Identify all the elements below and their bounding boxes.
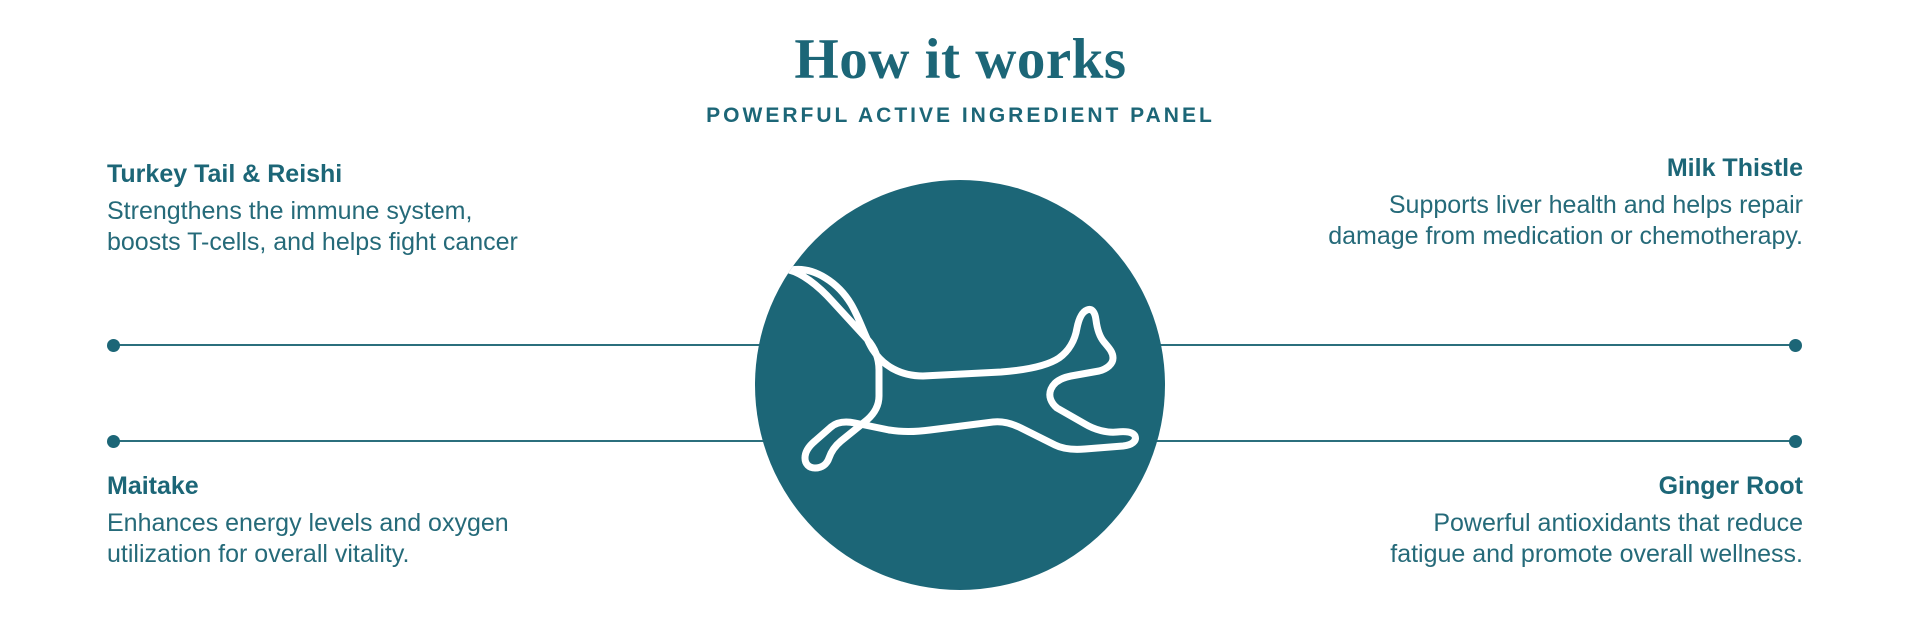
ingredient-name: Maitake [107, 470, 667, 502]
ingredient-milk-thistle: Milk Thistle Supports liver health and h… [1183, 152, 1803, 252]
ingredient-description: Strengthens the immune system, boosts T-… [107, 196, 667, 258]
connector-line-bottom-left [118, 440, 766, 442]
connector-line-top-right [1155, 344, 1793, 346]
ingredient-description: Powerful antioxidants that reduce fatigu… [1183, 508, 1803, 570]
how-it-works-infographic: How it works POWERFUL ACTIVE INGREDIENT … [0, 0, 1921, 640]
connector-line-bottom-right [1155, 440, 1793, 442]
ingredient-maitake: Maitake Enhances energy levels and oxyge… [107, 470, 667, 570]
center-medallion [755, 180, 1165, 590]
connector-line-top-left [118, 344, 766, 346]
header: How it works POWERFUL ACTIVE INGREDIENT … [0, 0, 1921, 130]
connector-dot-bottom-right [1789, 435, 1802, 448]
ingredient-description: Enhances energy levels and oxygen utiliz… [107, 508, 667, 570]
ingredient-description: Supports liver health and helps repair d… [1183, 190, 1803, 252]
ingredient-name: Turkey Tail & Reishi [107, 158, 667, 190]
page-title: How it works [0, 28, 1921, 92]
leaping-cat-outline-icon [755, 180, 1165, 590]
connector-dot-top-right [1789, 339, 1802, 352]
ingredient-name: Milk Thistle [1183, 152, 1803, 184]
connector-dot-top-left [107, 339, 120, 352]
ingredient-ginger-root: Ginger Root Powerful antioxidants that r… [1183, 470, 1803, 570]
connector-dot-bottom-left [107, 435, 120, 448]
page-subtitle: POWERFUL ACTIVE INGREDIENT PANEL [0, 102, 1921, 130]
ingredient-name: Ginger Root [1183, 470, 1803, 502]
ingredient-turkey-tail-reishi: Turkey Tail & Reishi Strengthens the imm… [107, 158, 667, 258]
